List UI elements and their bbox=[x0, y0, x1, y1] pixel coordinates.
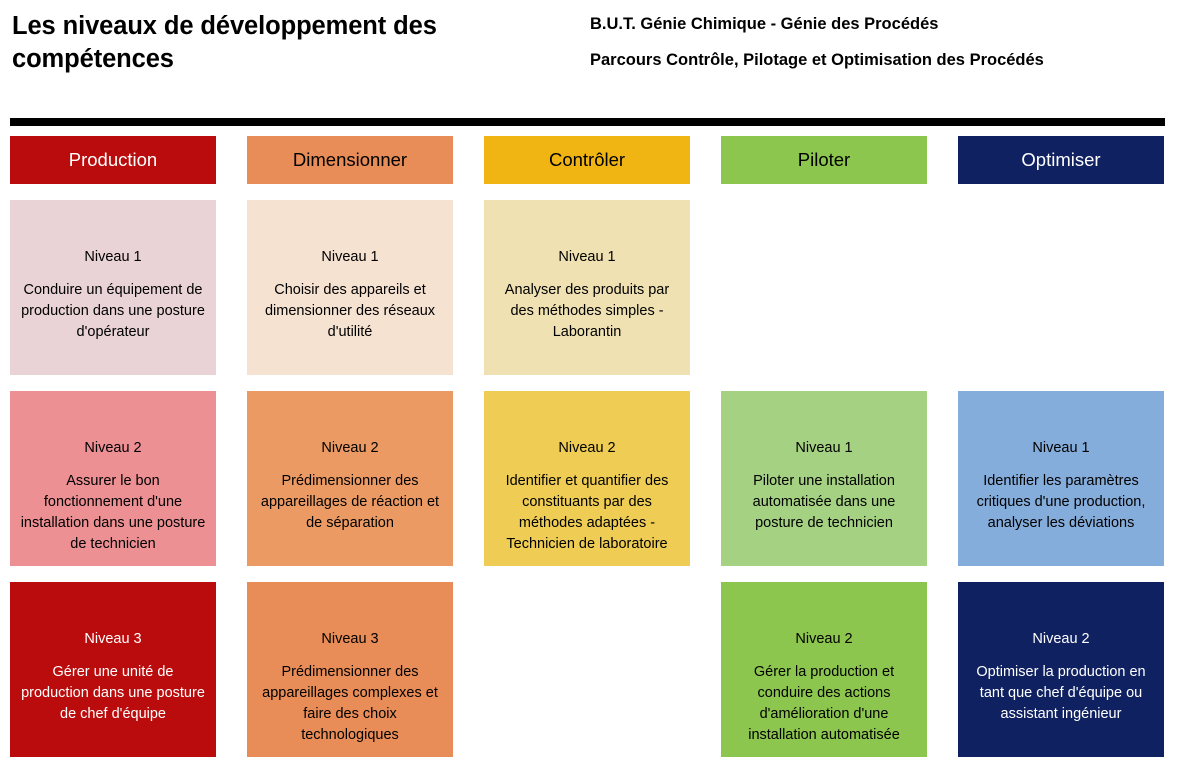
level-card[interactable]: Niveau 2Gérer la production et conduire … bbox=[721, 582, 927, 757]
level-card[interactable]: Niveau 1Choisir des appareils et dimensi… bbox=[247, 200, 453, 375]
level-description: Prédimensionner des appareillages de réa… bbox=[257, 471, 443, 534]
level-label: Niveau 1 bbox=[1032, 439, 1089, 457]
level-card[interactable]: Niveau 1Conduire un équipement de produc… bbox=[10, 200, 216, 375]
level-card[interactable]: Niveau 2Assurer le bon fonctionnement d'… bbox=[10, 391, 216, 566]
competency-column-dimensionner: DimensionnerNiveau 1Choisir des appareil… bbox=[247, 136, 453, 773]
level-card[interactable]: Niveau 3Gérer une unité de production da… bbox=[10, 582, 216, 757]
level-card[interactable]: Niveau 1Identifier les paramètres critiq… bbox=[958, 391, 1164, 566]
level-label: Niveau 2 bbox=[1032, 630, 1089, 648]
level-description: Choisir des appareils et dimensionner de… bbox=[257, 280, 443, 343]
level-card[interactable]: Niveau 2Optimiser la production en tant … bbox=[958, 582, 1164, 757]
level-card[interactable]: Niveau 1Piloter une installation automat… bbox=[721, 391, 927, 566]
column-header-optimiser[interactable]: Optimiser bbox=[958, 136, 1164, 184]
program-subtitle: Parcours Contrôle, Pilotage et Optimisat… bbox=[590, 49, 1090, 71]
column-header-controler[interactable]: Contrôler bbox=[484, 136, 690, 184]
level-description: Identifier et quantifier des constituant… bbox=[494, 471, 680, 555]
level-label: Niveau 3 bbox=[84, 630, 141, 648]
level-label: Niveau 1 bbox=[321, 248, 378, 266]
level-label: Niveau 2 bbox=[558, 439, 615, 457]
level-description: Gérer la production et conduire des acti… bbox=[731, 662, 917, 746]
level-card-empty bbox=[484, 582, 690, 757]
program-title: B.U.T. Génie Chimique - Génie des Procéd… bbox=[590, 14, 1170, 35]
competency-column-production: ProductionNiveau 1Conduire un équipement… bbox=[10, 136, 216, 773]
level-description: Optimiser la production en tant que chef… bbox=[968, 662, 1154, 725]
competency-grid: ProductionNiveau 1Conduire un équipement… bbox=[0, 136, 1178, 773]
level-label: Niveau 1 bbox=[558, 248, 615, 266]
column-header-production[interactable]: Production bbox=[10, 136, 216, 184]
header-divider bbox=[10, 118, 1165, 126]
level-label: Niveau 1 bbox=[84, 248, 141, 266]
page-header: Les niveaux de développement des compéte… bbox=[0, 0, 1178, 112]
level-description: Piloter une installation automatisée dan… bbox=[731, 471, 917, 534]
competency-column-piloter: PiloterNiveau 1Piloter une installation … bbox=[721, 136, 927, 773]
level-description: Prédimensionner des appareillages comple… bbox=[257, 662, 443, 746]
page-title: Les niveaux de développement des compéte… bbox=[12, 8, 568, 75]
column-header-piloter[interactable]: Piloter bbox=[721, 136, 927, 184]
competency-column-controler: ContrôlerNiveau 1Analyser des produits p… bbox=[484, 136, 690, 773]
level-card[interactable]: Niveau 2Identifier et quantifier des con… bbox=[484, 391, 690, 566]
level-label: Niveau 1 bbox=[795, 439, 852, 457]
level-card-empty bbox=[958, 200, 1164, 375]
level-description: Gérer une unité de production dans une p… bbox=[20, 662, 206, 725]
level-label: Niveau 2 bbox=[321, 439, 378, 457]
header-right: B.U.T. Génie Chimique - Génie des Procéd… bbox=[568, 8, 1170, 72]
level-card-empty bbox=[721, 200, 927, 375]
level-label: Niveau 3 bbox=[321, 630, 378, 648]
level-card[interactable]: Niveau 1Analyser des produits par des mé… bbox=[484, 200, 690, 375]
level-description: Conduire un équipement de production dan… bbox=[20, 280, 206, 343]
competency-column-optimiser: OptimiserNiveau 1Identifier les paramètr… bbox=[958, 136, 1164, 773]
level-description: Analyser des produits par des méthodes s… bbox=[494, 280, 680, 343]
level-label: Niveau 2 bbox=[84, 439, 141, 457]
column-header-dimensionner[interactable]: Dimensionner bbox=[247, 136, 453, 184]
level-card[interactable]: Niveau 2Prédimensionner des appareillage… bbox=[247, 391, 453, 566]
level-label: Niveau 2 bbox=[795, 630, 852, 648]
header-left: Les niveaux de développement des compéte… bbox=[8, 8, 568, 75]
level-description: Identifier les paramètres critiques d'un… bbox=[968, 471, 1154, 534]
level-description: Assurer le bon fonctionnement d'une inst… bbox=[20, 471, 206, 555]
level-card[interactable]: Niveau 3Prédimensionner des appareillage… bbox=[247, 582, 453, 757]
